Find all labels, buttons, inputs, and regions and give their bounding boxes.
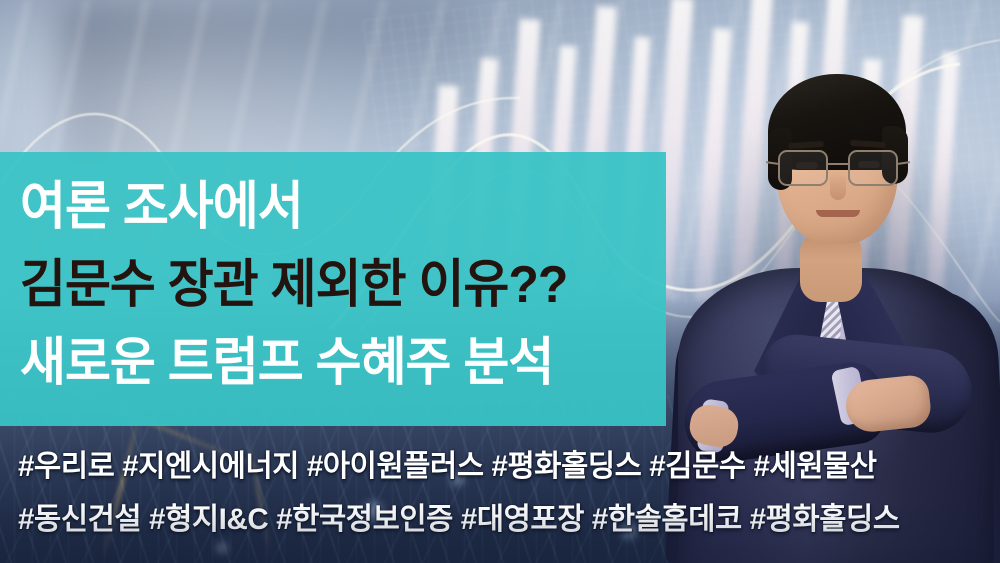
headline-block: 여론 조사에서 김문수 장관 제외한 이유?? 새로운 트럼프 수혜주 분석 <box>0 152 666 426</box>
eyeglass-lens-right <box>848 150 898 186</box>
hashtag-line-1: #우리로 #지엔시에너지 #아이원플러스 #평화홀딩스 #김문수 #세원물산 <box>18 440 978 493</box>
eyeglass-lens-left <box>778 150 828 186</box>
headline-line-3: 새로운 트럼프 수혜주 분석 <box>20 324 640 402</box>
eyeglasses-icon <box>774 150 902 190</box>
presenter-mouth <box>816 210 860 217</box>
thumbnail-canvas: 여론 조사에서 김문수 장관 제외한 이유?? 새로운 트럼프 수혜주 분석 #… <box>0 0 1000 563</box>
eyeglass-bridge <box>828 163 848 165</box>
hashtag-line-2: #동신건설 #형지I&C #한국정보인증 #대영포장 #한솔홈데코 #평화홀딩스 <box>18 493 978 546</box>
headline-line-1: 여론 조사에서 <box>20 168 640 246</box>
headline-line-2: 김문수 장관 제외한 이유?? <box>20 246 640 324</box>
hashtag-block: #우리로 #지엔시에너지 #아이원플러스 #평화홀딩스 #김문수 #세원물산 #… <box>18 440 993 546</box>
